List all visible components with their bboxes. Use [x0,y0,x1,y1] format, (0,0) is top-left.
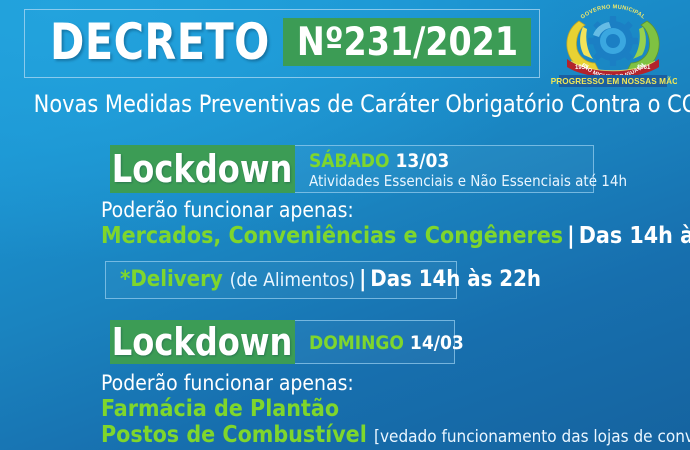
delivery-label: *Delivery [120,267,223,292]
lockdown-badge-label: Lockdown [112,323,293,361]
sunday-item-two-note: [vedado funcionamento das lojas de conve… [374,427,690,447]
delivery-text: *Delivery (de Alimentos)|Das 14h às 22h [120,268,541,292]
sunday-day-line: DOMINGO 14/03 [309,332,440,354]
lockdown-row-saturday: Lockdown SÁBADO 13/03 Atividades Essenci… [110,145,594,193]
delivery-separator: | [355,267,370,292]
saturday-info-box: SÁBADO 13/03 Atividades Essenciais e Não… [295,145,594,193]
decree-number-text: Nº231/2021 [296,23,517,62]
decree-word: DECRETO [50,17,270,67]
sunday-allow-item-two: Postos de Combustível [vedado funcioname… [101,422,690,450]
saturday-allow-item: Mercados, Conveniências e Congêneres|Das… [101,223,690,249]
saturday-allow-label: Poderão funcionar apenas: [101,198,354,222]
lockdown-row-sunday: Lockdown DOMINGO 14/03 [110,320,455,364]
lockdown-badge-saturday: Lockdown [110,145,295,193]
saturday-item-text: Mercados, Conveniências e Congêneres [101,223,563,249]
page-subtitle: Novas Medidas Preventivas de Caráter Obr… [34,90,660,118]
delivery-paren-note: (de Alimentos) [230,269,355,291]
sunday-info-box: DOMINGO 14/03 [295,320,455,364]
lockdown-badge-sunday: Lockdown [110,320,295,364]
sunday-day-name: DOMINGO [309,332,404,354]
saturday-day-date: 13/03 [395,150,449,172]
sunday-allow-item-one: Farmácia de Plantão [101,396,339,422]
saturday-day-name: SÁBADO [309,150,390,172]
sunday-day-date: 14/03 [410,332,464,354]
decree-number-badge: Nº231/2021 [283,18,531,66]
saturday-day-note: Atividades Essenciais e Não Essenciais a… [309,172,579,190]
delivery-hours: Das 14h às 22h [370,267,541,292]
sunday-item-two-text: Postos de Combustível [101,422,367,448]
saturday-separator: | [563,223,579,249]
municipal-emblem: 1951 1961 SÃO MIGUEL DO IGUAÇU GOVERNO M… [549,1,677,89]
sunday-allow-label: Poderão funcionar apenas: [101,371,354,395]
saturday-day-line: SÁBADO 13/03 [309,150,579,172]
decree-poster: DECRETO Nº231/2021 Novas Medidas Prevent… [0,0,690,450]
lockdown-badge-label: Lockdown [112,150,293,188]
svg-text:O PROGRESSO EM NOSSAS MÃOS: O PROGRESSO EM NOSSAS MÃOS [549,76,677,86]
delivery-box: *Delivery (de Alimentos)|Das 14h às 22h [105,261,457,299]
saturday-hours: Das 14h às 20h [579,223,690,249]
